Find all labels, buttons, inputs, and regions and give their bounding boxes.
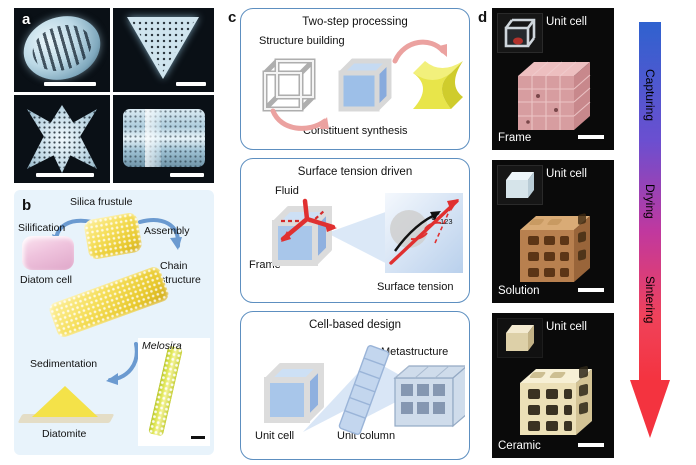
chain-structure-label-line2: structure [160,274,201,286]
unit-cell-label-frame: Unit cell [546,16,587,28]
fluid-filled-cube [331,53,399,119]
solution-photo: Unit cell Solution [492,160,614,303]
panel-a-label: a [22,12,30,27]
scale-bar [176,82,206,86]
silification-label: Silification [18,222,65,234]
theta-symbol: θ [431,211,437,223]
two-step-processing-box: Two-step processing Structure building C… [240,8,470,150]
surface-tension-driven-box: Surface tension driven Fluid Frame Surfa… [240,158,470,303]
diatom-cell-label: Diatom cell [20,274,72,286]
surface-tension-title: Surface tension driven [241,166,469,178]
solution-scale-bar [578,288,604,292]
melosira-inset [138,338,210,446]
cell-based-design-box: Cell-based design Unit cell Unit column … [240,311,470,460]
melosira-label: Melosira [142,340,182,352]
unit-cell-label-solution: Unit cell [546,168,587,180]
sem-image-oval-frustule: a [14,8,110,92]
sem-image-triangular-frustule [113,8,214,92]
panel-d: d Unit cell [492,8,622,458]
diatom-cell-shape [22,236,74,270]
panel-d-label: d [478,10,487,25]
scale-bar [36,173,94,177]
ceramic-state-label: Ceramic [498,440,541,452]
surface-tension-detail [385,189,463,277]
ceramic-lattice-cube [510,361,602,443]
sem-image-cylindrical-frustule [113,95,214,183]
synthesis-arrow-bottom [269,103,331,137]
fluid-label: Fluid [275,185,299,197]
solution-lattice-cube [510,210,600,290]
chain-structure-label-line1: Chain [160,260,187,272]
frame-fluid-cube [263,197,345,277]
scale-bar [170,173,204,177]
unit-cell-inset-solution-icon [498,166,542,204]
sedimentation-label: Sedimentation [30,358,97,370]
assembly-label: Assembly [144,225,190,237]
cylindrical-frustule-pores [123,109,205,167]
melosira-scale-bar [191,436,205,439]
frame-scale-bar [578,135,604,139]
solution-state-label: Solution [498,285,540,297]
silica-frustule-shape [83,212,143,261]
synthesis-arrow-top [391,35,451,69]
unit-cell-inset-ceramic-icon [498,319,542,357]
cylindrical-frustule-girdle [145,109,161,167]
unit-column [337,342,391,438]
frame-lattice-cube [508,56,600,138]
stage-drying-label: Drying [639,158,661,244]
panel-a: a [14,8,214,183]
diatomite-label: Diatomite [42,428,86,440]
stage-sintering-label: Sintering [639,250,661,350]
melosira-chain-image [148,345,183,436]
surface-tension-label: Surface tension [377,281,453,293]
scale-bar [44,82,96,86]
unit-cell-cube [255,354,337,434]
sedimentation-arrow [102,340,142,388]
structure-building-label: Structure building [259,35,345,47]
two-step-processing-title: Two-step processing [241,16,469,28]
stage-capturing-label: Capturing [639,40,661,150]
unit-cell-inset-frame-icon [498,14,542,52]
ceramic-photo: Unit cell Ceramic [492,313,614,458]
silica-frustule-title: Silica frustule [70,196,132,208]
sem-image-star-frustule [14,95,110,183]
diatomite-shape [32,386,98,417]
frame-photo: Unit cell Frame [492,8,614,150]
unit-cell-inset-ceramic [497,318,543,358]
process-arrow: Capturing Drying Sintering [630,22,670,442]
theta-subscript: 123 [440,217,453,226]
panel-b: b Silica frustule Silification Assembly … [14,190,214,455]
unit-cell-inset-frame [497,13,543,53]
ceramic-scale-bar [578,443,604,447]
metastructure [389,360,465,432]
cell-based-design-title: Cell-based design [241,319,469,331]
star-frustule-pores [27,105,97,173]
process-arrow-head [630,380,670,438]
panel-c: c Two-step processing Structure building… [240,8,468,458]
unit-cell-label-ceramic: Unit cell [546,321,587,333]
unit-cell-inset-solution [497,165,543,205]
panel-b-label: b [22,198,31,213]
frame-state-label: Frame [498,132,531,144]
panel-c-label: c [228,10,236,25]
